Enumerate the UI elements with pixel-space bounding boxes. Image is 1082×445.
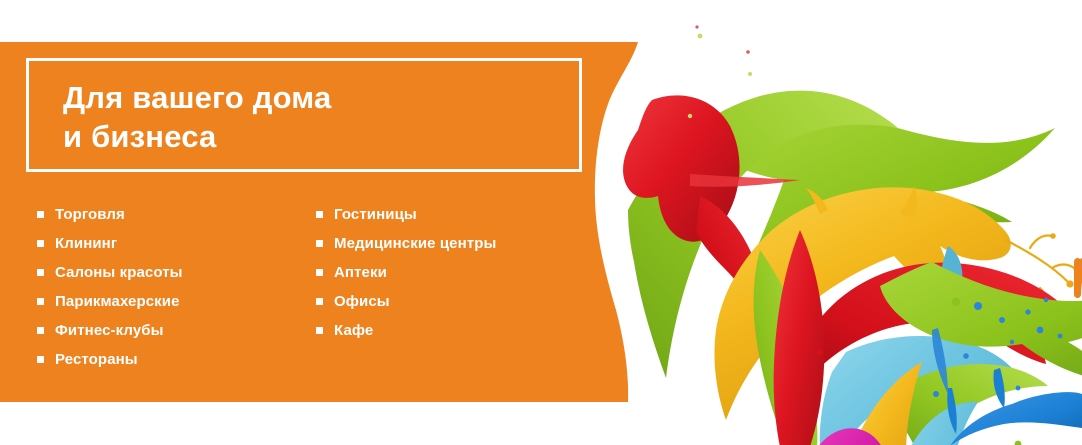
- page-title: Для вашего дома и бизнеса: [63, 78, 583, 156]
- list-item[interactable]: Гостиницы: [316, 200, 496, 229]
- bullet-square-icon: [316, 269, 323, 276]
- list-item-label: Фитнес-клубы: [55, 322, 164, 339]
- bullet-square-icon: [37, 356, 44, 363]
- bullet-square-icon: [37, 240, 44, 247]
- list-item-label: Медицинские центры: [334, 235, 496, 252]
- list-item[interactable]: Торговля: [37, 200, 183, 229]
- list-item-label: Кафе: [334, 322, 373, 339]
- list-item-label: Гостиницы: [334, 206, 417, 223]
- list-item-label: Рестораны: [55, 351, 138, 368]
- list-item-label: Клининг: [55, 235, 117, 252]
- list-item[interactable]: Фитнес-клубы: [37, 316, 183, 345]
- list-item[interactable]: Клининг: [37, 229, 183, 258]
- list-item[interactable]: Салоны красоты: [37, 258, 183, 287]
- list-item[interactable]: Рестораны: [37, 345, 183, 374]
- bullet-square-icon: [37, 327, 44, 334]
- list-item[interactable]: Офисы: [316, 287, 496, 316]
- list-item-label: Офисы: [334, 293, 390, 310]
- bullet-square-icon: [316, 211, 323, 218]
- list-item-label: Салоны красоты: [55, 264, 183, 281]
- category-list-left: Торговля Клининг Салоны красоты Парикмах…: [37, 200, 183, 374]
- bullet-square-icon: [37, 298, 44, 305]
- bullet-square-icon: [316, 327, 323, 334]
- list-item-label: Торговля: [55, 206, 125, 223]
- list-item[interactable]: Парикмахерские: [37, 287, 183, 316]
- category-list-right: Гостиницы Медицинские центры Аптеки Офис…: [316, 200, 496, 345]
- list-item-label: Аптеки: [334, 264, 387, 281]
- list-item[interactable]: Кафе: [316, 316, 496, 345]
- bullet-square-icon: [316, 240, 323, 247]
- promo-banner: Для вашего дома и бизнеса Торговля Клини…: [0, 0, 1082, 445]
- bullet-square-icon: [37, 269, 44, 276]
- list-item-label: Парикмахерские: [55, 293, 180, 310]
- list-item[interactable]: Аптеки: [316, 258, 496, 287]
- banner-content: Для вашего дома и бизнеса Торговля Клини…: [0, 0, 620, 445]
- list-item[interactable]: Медицинские центры: [316, 229, 496, 258]
- bullet-square-icon: [37, 211, 44, 218]
- bullet-square-icon: [316, 298, 323, 305]
